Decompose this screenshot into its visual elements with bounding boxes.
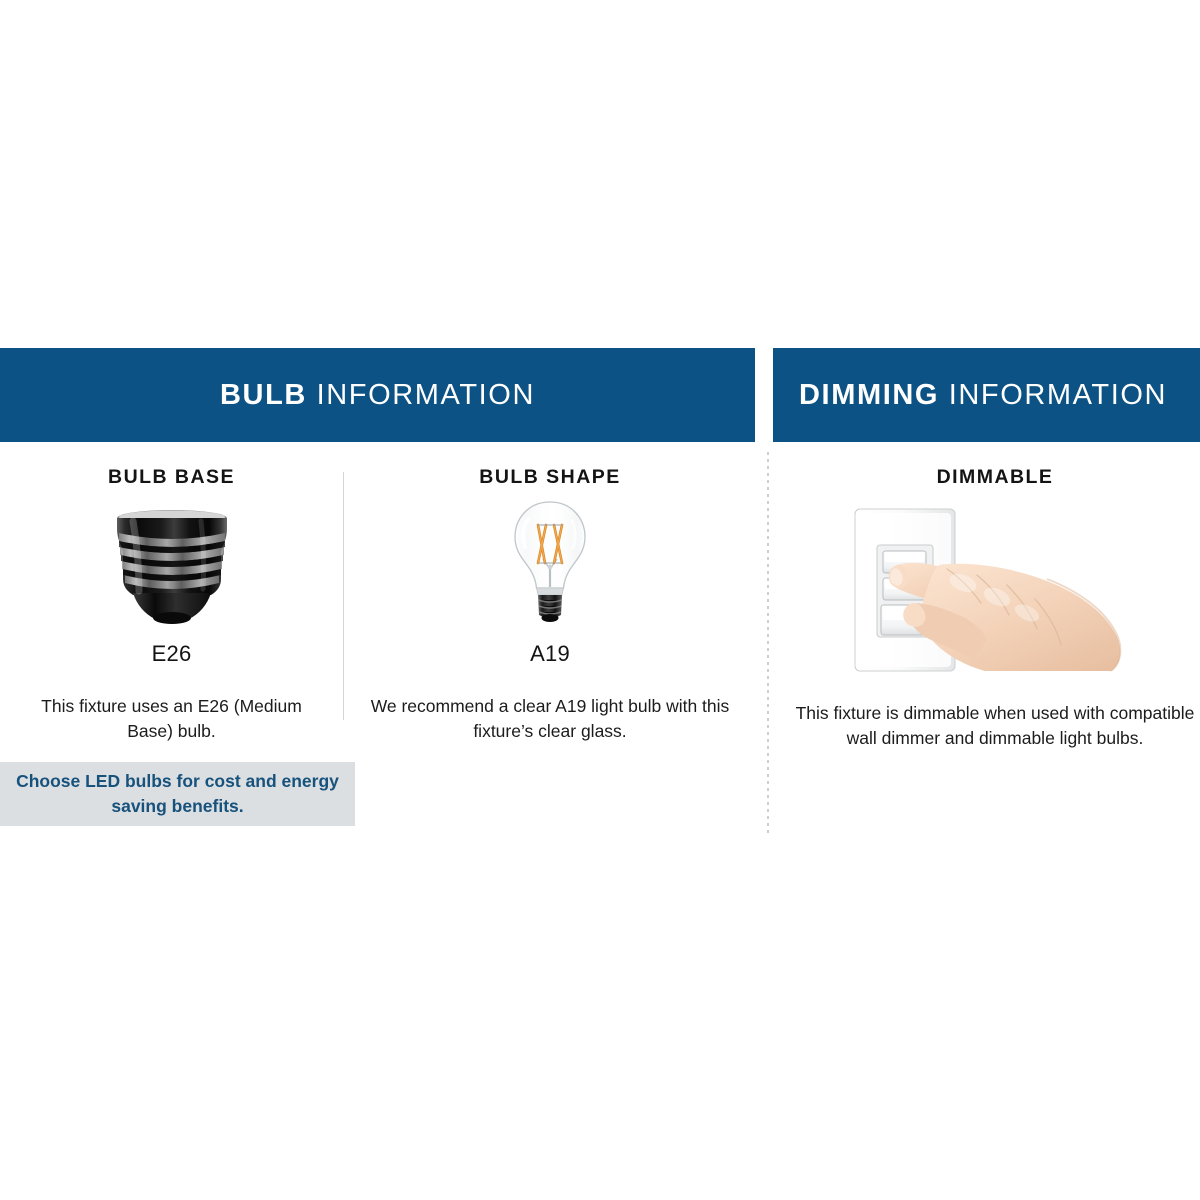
dimming-information-title-strong: DIMMING: [799, 379, 939, 411]
bulb-base-spec-value: E26: [0, 641, 343, 667]
a19-bulb-icon: [344, 499, 756, 627]
panels-dashed-divider: [767, 452, 769, 836]
wall-dimmer-switch-icon: [790, 499, 1200, 681]
bulb-information-title-strong: BULB: [220, 379, 307, 411]
bulb-shape-heading: BULB SHAPE: [344, 466, 756, 489]
dimming-information-title-rest: INFORMATION: [939, 379, 1167, 411]
bulb-information-title: BULB INFORMATION: [220, 379, 535, 412]
dimmable-heading: DIMMABLE: [790, 466, 1200, 489]
bulb-base-column: BULB BASE: [0, 466, 343, 744]
bulb-shape-spec-value: A19: [344, 641, 756, 667]
bulb-shape-description: We recommend a clear A19 light bulb with…: [344, 694, 756, 744]
e26-base-icon: [0, 499, 343, 627]
bulb-shape-column: BULB SHAPE: [344, 466, 756, 744]
dimmable-column: DIMMABLE: [790, 466, 1200, 751]
bulb-and-dimming-information-graphic: BULB INFORMATION DIMMING INFORMATION BUL…: [0, 0, 1200, 1200]
bulb-information-title-rest: INFORMATION: [307, 379, 535, 411]
dimming-information-header-bar: DIMMING INFORMATION: [773, 348, 1200, 442]
led-callout-text: Choose LED bulbs for cost and energy sav…: [0, 769, 355, 819]
led-callout-box: Choose LED bulbs for cost and energy sav…: [0, 762, 355, 826]
bulb-base-heading: BULB BASE: [0, 466, 343, 489]
bulb-base-description: This fixture uses an E26 (Medium Base) b…: [0, 694, 343, 744]
bulb-information-header-bar: BULB INFORMATION: [0, 348, 755, 442]
dimming-information-title: DIMMING INFORMATION: [799, 379, 1167, 412]
dimmable-description: This fixture is dimmable when used with …: [790, 701, 1200, 751]
